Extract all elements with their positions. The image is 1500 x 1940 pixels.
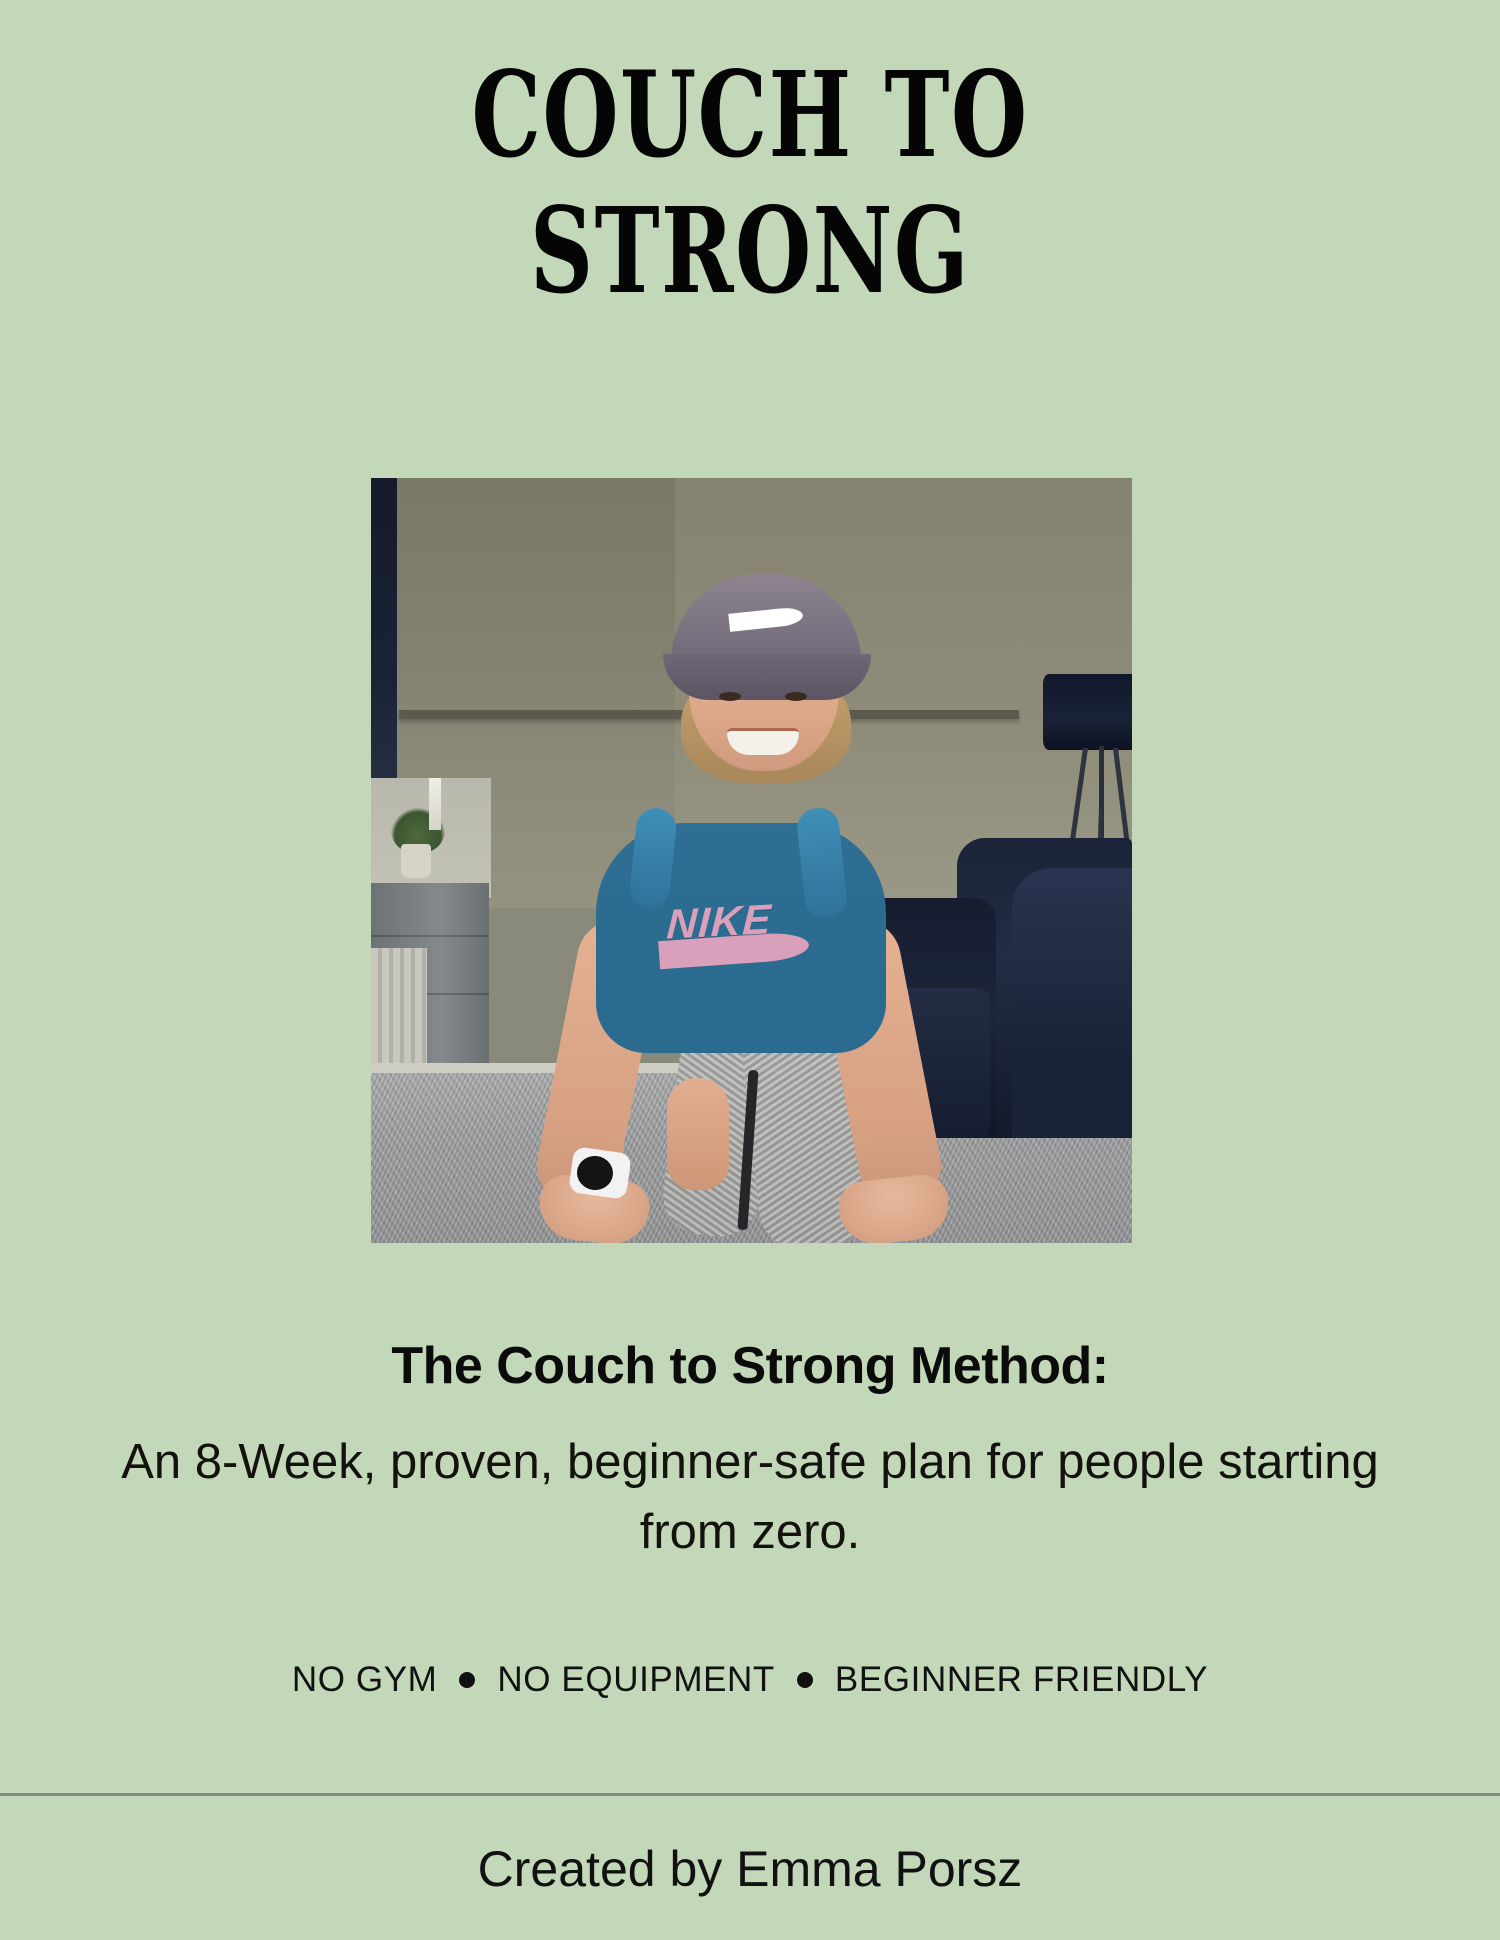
badge-no-gym: NO GYM xyxy=(292,1660,438,1700)
badge-beginner-friendly: BEGINNER FRIENDLY xyxy=(835,1660,1208,1700)
smile xyxy=(727,728,799,755)
method-heading: The Couch to Strong Method: xyxy=(0,1336,1500,1396)
badge-no-equipment: NO EQUIPMENT xyxy=(497,1660,775,1700)
bullet-dot-icon xyxy=(459,1672,475,1688)
title-line-1: COUCH TO xyxy=(195,58,1305,172)
title-line-2: STRONG xyxy=(195,194,1305,308)
person-plank-pose: NIKE xyxy=(371,478,1132,1243)
credit-line: Created by Emma Porsz xyxy=(0,1840,1500,1898)
feature-badges: NO GYM NO EQUIPMENT BEGINNER FRIENDLY xyxy=(0,1660,1500,1700)
bullet-dot-icon xyxy=(797,1672,813,1688)
cap-brim xyxy=(663,654,871,700)
poster-page: COUCH TO STRONG xyxy=(0,0,1500,1940)
foot xyxy=(667,1078,729,1190)
eye-right xyxy=(785,692,807,701)
hand-right xyxy=(836,1172,952,1243)
eye-left xyxy=(719,692,741,701)
hero-photo: NIKE xyxy=(371,478,1132,1243)
nike-wordmark: NIKE xyxy=(666,895,773,948)
page-title: COUCH TO STRONG xyxy=(0,58,1500,309)
footer-divider xyxy=(0,1793,1500,1796)
hero-photo-image: NIKE xyxy=(371,478,1132,1243)
subtitle-text: An 8-Week, proven, beginner-safe plan fo… xyxy=(0,1428,1500,1567)
